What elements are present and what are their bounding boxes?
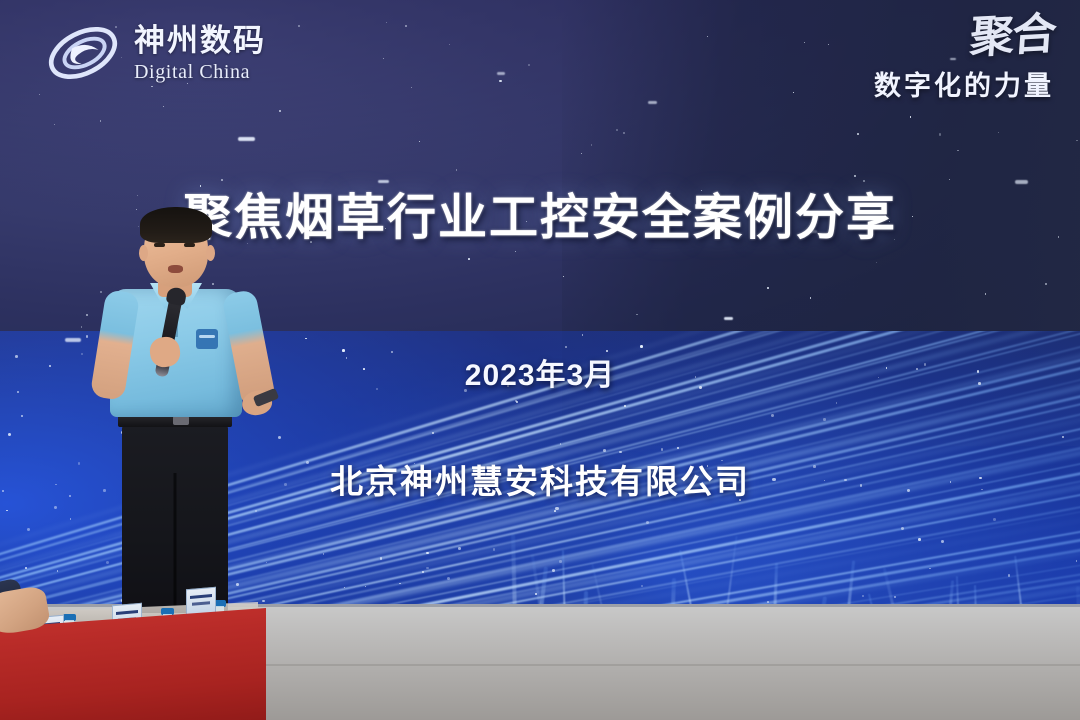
light-particle bbox=[552, 569, 555, 572]
event-calligraphy: 聚合 bbox=[872, 13, 1056, 65]
light-particle bbox=[828, 44, 829, 45]
speaker-eye-left bbox=[154, 243, 165, 247]
light-particle bbox=[640, 345, 643, 348]
light-particle bbox=[767, 287, 769, 289]
light-particle bbox=[901, 527, 904, 530]
light-streak bbox=[65, 338, 81, 342]
light-streak bbox=[497, 72, 505, 75]
light-particle bbox=[823, 418, 825, 420]
belt-buckle bbox=[173, 416, 189, 425]
light-particle bbox=[563, 276, 564, 277]
light-particle bbox=[804, 42, 805, 43]
light-particle bbox=[641, 585, 643, 587]
light-particle bbox=[279, 110, 281, 112]
light-particle bbox=[939, 133, 941, 135]
light-particle bbox=[554, 510, 556, 512]
light-particle bbox=[910, 116, 911, 117]
event-tagline: 数字化的力量 bbox=[874, 64, 1054, 103]
speaker-eye-right bbox=[184, 243, 195, 247]
light-particle bbox=[386, 22, 387, 23]
light-particle bbox=[8, 433, 11, 436]
speaker-mouth bbox=[168, 265, 183, 273]
light-particle bbox=[707, 36, 708, 37]
light-particle bbox=[6, 510, 7, 511]
light-particle bbox=[559, 560, 562, 563]
light-particle bbox=[619, 451, 621, 453]
light-particle bbox=[603, 449, 606, 452]
light-particle bbox=[918, 538, 921, 541]
light-particle bbox=[81, 326, 83, 328]
name-card-text bbox=[190, 594, 212, 599]
light-particle bbox=[555, 507, 558, 510]
light-particle bbox=[985, 293, 987, 295]
light-particle bbox=[1045, 283, 1047, 285]
light-particle bbox=[528, 64, 530, 66]
light-particle bbox=[623, 132, 625, 134]
speaker-ear-left bbox=[139, 245, 148, 261]
digital-china-wordmark: 神州数码 Digital China bbox=[134, 25, 266, 82]
light-particle bbox=[344, 587, 345, 588]
light-particle bbox=[993, 518, 996, 521]
light-streak bbox=[724, 317, 733, 320]
light-particle bbox=[854, 175, 855, 176]
brand-name-en: Digital China bbox=[134, 62, 266, 82]
light-particle bbox=[616, 129, 618, 131]
digital-china-swirl-icon bbox=[44, 22, 122, 84]
name-card-text bbox=[116, 610, 138, 615]
floor-seam bbox=[130, 664, 1080, 666]
light-particle bbox=[661, 448, 663, 450]
light-particle bbox=[468, 258, 470, 260]
light-particle bbox=[405, 25, 407, 27]
light-particle bbox=[25, 567, 26, 568]
shirt-logo-badge bbox=[196, 329, 218, 349]
light-particle bbox=[876, 262, 877, 263]
light-streak bbox=[648, 101, 657, 104]
foreground-table bbox=[0, 580, 266, 720]
light-particle bbox=[941, 540, 944, 543]
light-particle bbox=[1008, 574, 1010, 576]
speaker-hair bbox=[140, 207, 212, 243]
light-particle bbox=[54, 506, 57, 509]
light-particle bbox=[456, 169, 457, 170]
name-card-text bbox=[192, 601, 210, 606]
light-particle bbox=[1076, 140, 1077, 141]
light-particle bbox=[39, 94, 40, 95]
light-particle bbox=[447, 577, 450, 580]
speaker-person bbox=[96, 223, 264, 613]
light-particle bbox=[27, 528, 30, 531]
light-particle bbox=[1076, 560, 1077, 561]
light-particle bbox=[57, 570, 58, 571]
light-particle bbox=[305, 338, 306, 339]
light-particle bbox=[581, 153, 582, 154]
conference-photo: 神州数码 Digital China 聚合 数字化的力量 聚焦烟草行业工控安全案… bbox=[0, 0, 1080, 720]
light-particle bbox=[426, 567, 428, 569]
light-streak bbox=[238, 137, 255, 141]
light-particle bbox=[278, 436, 281, 439]
light-particle bbox=[836, 402, 837, 403]
event-logo: 聚合 数字化的力量 bbox=[874, 18, 1054, 103]
brand-name-cn: 神州数码 bbox=[134, 25, 266, 56]
light-particle bbox=[323, 553, 324, 554]
light-particle bbox=[1062, 436, 1063, 437]
light-particle bbox=[298, 25, 300, 27]
light-particle bbox=[998, 132, 999, 133]
speaker-ear-right bbox=[206, 245, 215, 261]
digital-china-logo: 神州数码 Digital China bbox=[44, 22, 266, 84]
light-particle bbox=[432, 432, 434, 434]
